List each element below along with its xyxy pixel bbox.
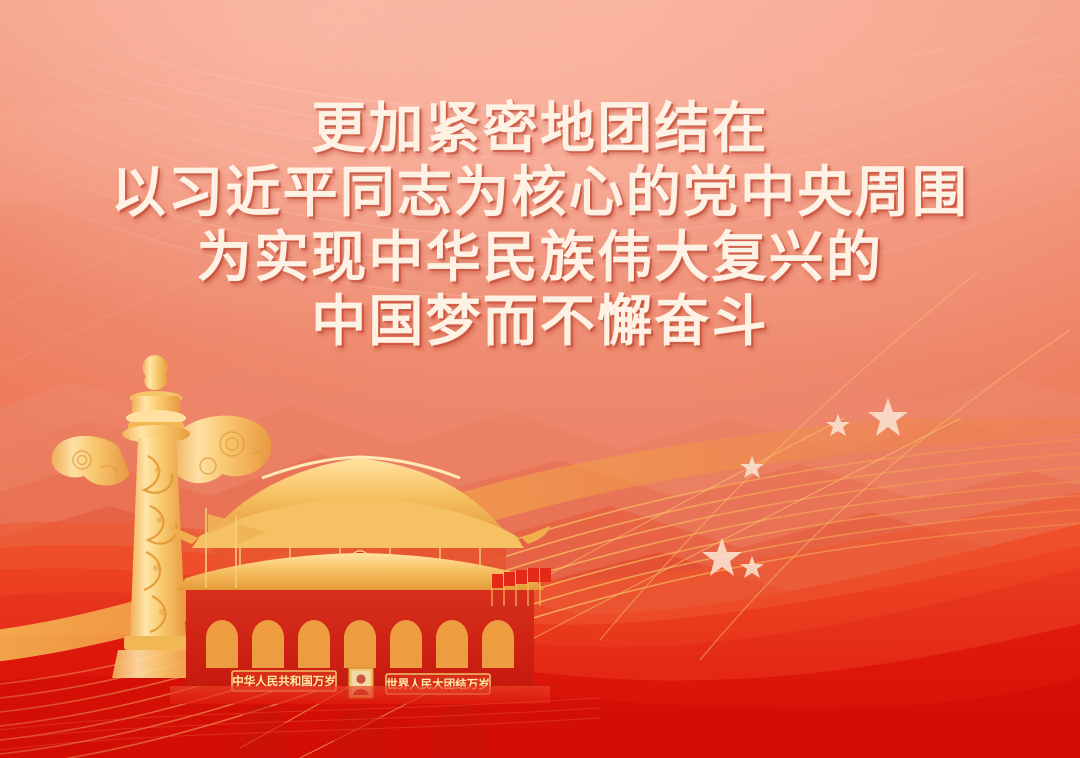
headline-line-4: 中国梦而不懈奋斗 xyxy=(0,289,1080,353)
star-cluster xyxy=(702,398,908,578)
headline-block: 更加紧密地团结在 以习近平同志为核心的党中央周围 为实现中华民族伟大复兴的 中国… xyxy=(0,96,1080,353)
tiananmen-gate: 中华人民共和国万岁 世界人民大团结万岁 xyxy=(170,457,551,758)
headline-line-2: 以习近平同志为核心的党中央周围 xyxy=(0,160,1080,224)
headline-line-1: 更加紧密地团结在 xyxy=(0,96,1080,160)
headline-line-3: 为实现中华民族伟大复兴的 xyxy=(0,225,1080,289)
poster-canvas: 更加紧密地团结在 以习近平同志为核心的党中央周围 为实现中华民族伟大复兴的 中国… xyxy=(0,0,1080,758)
monument-illustration: 中华人民共和国万岁 世界人民大团结万岁 xyxy=(0,338,600,758)
left-banner-text: 中华人民共和国万岁 xyxy=(232,674,336,688)
